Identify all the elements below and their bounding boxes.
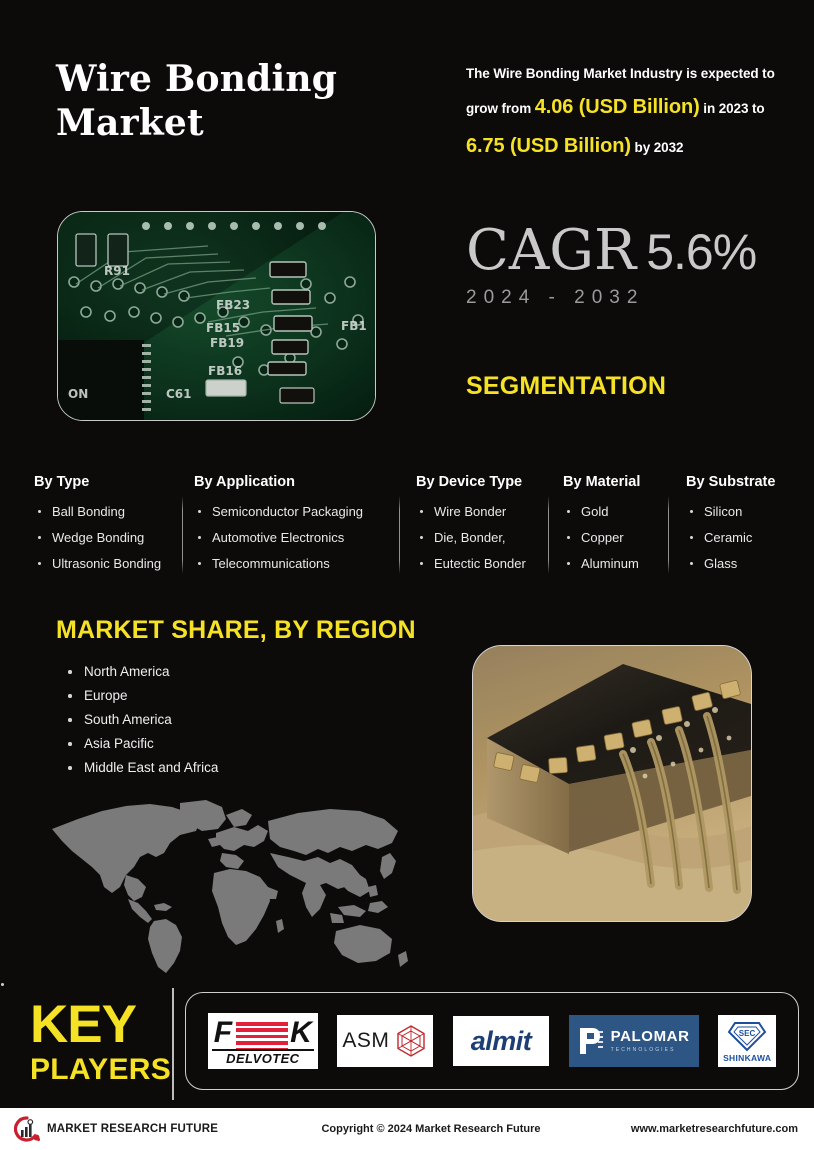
segment-column-application: By Application Semiconductor Packaging A…	[194, 474, 389, 577]
segment-title-substrate: By Substrate	[686, 474, 796, 490]
key-players-divider	[172, 988, 174, 1100]
forecast-value-2023: 4.06 (USD Billion)	[535, 96, 700, 118]
pcb-illustration: R91 FB23 FB15 FB19 FB16 FB1 C61 ON	[58, 212, 375, 420]
logo-shinkawa: SEC SHINKAWA	[718, 1015, 776, 1067]
pcb-photo: R91 FB23 FB15 FB19 FB16 FB1 C61 ON	[57, 211, 376, 421]
logo-palomar: PALOMAR TECHNOLOGIES	[569, 1015, 699, 1067]
asm-hexagon-icon	[394, 1024, 428, 1058]
shinkawa-diamond-icon: SEC	[727, 1020, 767, 1052]
key-players-line2: PLAYERS	[30, 1053, 160, 1086]
column-divider	[548, 496, 549, 574]
cagr-value: 5.6%	[646, 224, 756, 280]
fk-letter-k: K	[290, 1018, 312, 1048]
list-item: Semiconductor Packaging	[194, 499, 389, 525]
segment-column-substrate: By Substrate Silicon Ceramic Glass	[686, 474, 796, 577]
list-item: Middle East and Africa	[62, 756, 218, 780]
footer-brand: MARKET RESEARCH FUTURE	[14, 1116, 274, 1142]
logo-almit: almit	[453, 1016, 549, 1066]
world-map	[30, 795, 420, 980]
segment-column-device-type: By Device Type Wire Bonder Die, Bonder, …	[416, 474, 556, 577]
list-item: Wedge Bonding	[34, 525, 184, 551]
segment-title-type: By Type	[34, 474, 184, 490]
list-item: Telecommunications	[194, 551, 389, 577]
palomar-wordmark: PALOMAR	[611, 1029, 690, 1045]
list-item: Ceramic	[686, 525, 796, 551]
segment-title-device-type: By Device Type	[416, 474, 556, 490]
almit-wordmark: almit	[471, 1026, 532, 1057]
fk-delvotec-name: DELVOTEC	[208, 1051, 318, 1066]
svg-text:SEC: SEC	[739, 1029, 756, 1038]
list-item: Automotive Electronics	[194, 525, 389, 551]
market-research-future-logo-icon	[14, 1116, 40, 1142]
column-divider	[182, 496, 183, 574]
world-map-illustration	[30, 795, 420, 980]
list-item: Asia Pacific	[62, 732, 218, 756]
palomar-tagline: TECHNOLOGIES	[611, 1047, 676, 1053]
infographic-page: Wire Bonding Market The Wire Bonding Mar…	[0, 0, 814, 1150]
list-item: Copper	[563, 525, 673, 551]
fk-letter-f: F	[214, 1018, 232, 1048]
stray-bullet-marker	[1, 983, 4, 986]
list-item: Die, Bonder,	[416, 525, 556, 551]
segment-list-device-type: Wire Bonder Die, Bonder, Eutectic Bonder	[416, 499, 556, 577]
list-item: Ball Bonding	[34, 499, 184, 525]
cagr-block: CAGR5.6% 2024 - 2032	[466, 218, 796, 309]
segmentation-heading: SEGMENTATION	[466, 372, 666, 401]
fk-delvotec-mark: F K	[214, 1018, 312, 1048]
logo-asm: ASM	[337, 1015, 433, 1067]
region-list: North America Europe South America Asia …	[62, 660, 218, 780]
segment-list-substrate: Silicon Ceramic Glass	[686, 499, 796, 577]
list-item: Europe	[62, 684, 218, 708]
column-divider	[399, 496, 400, 574]
list-item: Aluminum	[563, 551, 673, 577]
list-item: North America	[62, 660, 218, 684]
segment-title-material: By Material	[563, 474, 673, 490]
wire-bonding-illustration	[473, 646, 751, 921]
market-forecast-statement: The Wire Bonding Market Industry is expe…	[466, 60, 796, 166]
palomar-text: PALOMAR TECHNOLOGIES	[611, 1029, 690, 1053]
list-item: Silicon	[686, 499, 796, 525]
cagr-label: CAGR	[466, 218, 636, 283]
segment-list-type: Ball Bonding Wedge Bonding Ultrasonic Bo…	[34, 499, 184, 577]
footer-url[interactable]: www.marketresearchfuture.com	[588, 1123, 798, 1135]
segment-column-type: By Type Ball Bonding Wedge Bonding Ultra…	[34, 474, 184, 577]
asm-wordmark: ASM	[342, 1029, 389, 1053]
column-divider	[668, 496, 669, 574]
forecast-tail-text: by 2032	[631, 140, 684, 155]
palomar-p-icon	[578, 1026, 604, 1056]
segmentation-columns: By Type Ball Bonding Wedge Bonding Ultra…	[0, 474, 814, 584]
logo-fk-delvotec: F K DELVOTEC	[208, 1013, 318, 1069]
segment-column-material: By Material Gold Copper Aluminum	[563, 474, 673, 577]
footer-brand-text: MARKET RESEARCH FUTURE	[47, 1123, 218, 1135]
list-item: Gold	[563, 499, 673, 525]
segment-list-application: Semiconductor Packaging Automotive Elect…	[194, 499, 389, 577]
key-players-heading: KEY PLAYERS	[30, 1000, 160, 1086]
list-item: Glass	[686, 551, 796, 577]
forecast-value-2032: 6.75 (USD Billion)	[466, 135, 631, 157]
page-title: Wire Bonding Market	[56, 58, 446, 146]
list-item: South America	[62, 708, 218, 732]
cagr-period: 2024 - 2032	[466, 287, 796, 309]
segment-title-application: By Application	[194, 474, 389, 490]
footer-copyright: Copyright © 2024 Market Research Future	[274, 1123, 588, 1135]
list-item: Wire Bonder	[416, 499, 556, 525]
cagr-line: CAGR5.6%	[466, 218, 796, 283]
forecast-mid-text: in 2023 to	[700, 101, 765, 116]
footer-bar: MARKET RESEARCH FUTURE Copyright © 2024 …	[0, 1108, 814, 1150]
key-players-line1: KEY	[30, 1000, 160, 1050]
list-item: Ultrasonic Bonding	[34, 551, 184, 577]
fk-stripes-icon	[236, 1022, 288, 1045]
key-players-logo-container: F K DELVOTEC ASM almit	[185, 992, 799, 1090]
market-share-heading: MARKET SHARE, BY REGION	[56, 616, 416, 645]
shinkawa-wordmark: SHINKAWA	[723, 1053, 771, 1063]
wire-bonding-photo	[472, 645, 752, 922]
segment-list-material: Gold Copper Aluminum	[563, 499, 673, 577]
list-item: Eutectic Bonder	[416, 551, 556, 577]
